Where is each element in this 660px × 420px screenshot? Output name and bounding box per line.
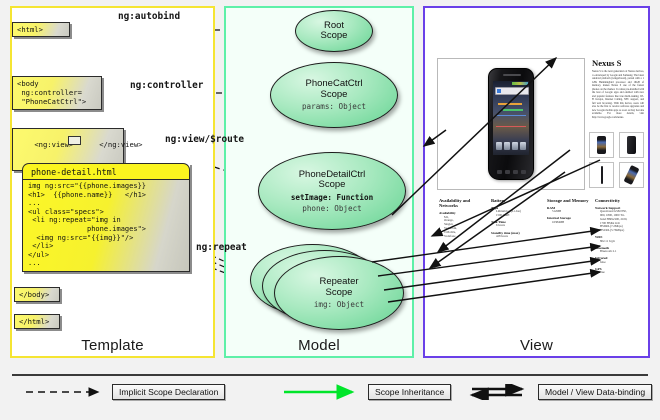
- spec-group: RAM 512MB: [547, 206, 593, 214]
- legend-label: Model / View Data-binding: [538, 384, 652, 400]
- spec-value: Vodafone: [439, 235, 485, 239]
- connector-label-autobind: ng:autobind: [118, 11, 180, 22]
- spec-heading: Connectivity: [595, 198, 643, 203]
- scope-phonedetailctrl-prop-setimage: setImage: Function: [291, 193, 373, 202]
- spec-value: false: [595, 261, 643, 265]
- ng-view-slot-icon: [68, 136, 81, 145]
- scope-phonecatctrl-line2: Scope: [321, 90, 348, 101]
- thumbnail-image-icon: [624, 165, 640, 185]
- spec-group: Internal Storage 16384MB: [547, 216, 593, 224]
- spec-column-battery: Battery Type Lithium Ion (Li-Ion) 1500 m…: [491, 198, 541, 239]
- scope-phonedetailctrl[interactable]: PhoneDetailCtrl Scope setImage: Function…: [258, 152, 406, 230]
- phone-hardware-buttons: [495, 168, 527, 175]
- phone-app-dock: [496, 142, 526, 152]
- code-box-html-open[interactable]: <html>: [12, 22, 70, 37]
- column-label-template: Template: [12, 337, 213, 354]
- phone-hero-image: [488, 68, 534, 180]
- legend-label: Scope Inheritance: [368, 384, 451, 400]
- spec-group: Talk Time 6 hours: [491, 220, 541, 228]
- scope-repeater[interactable]: Repeater Scope img: Object: [274, 256, 404, 330]
- phone-screen: [493, 81, 529, 155]
- phone-statusbar-icon: [512, 82, 528, 85]
- spec-heading: Availability and Networks: [439, 198, 485, 209]
- spec-value: 428 hours: [491, 235, 541, 239]
- phone-search-widget-icon: [495, 87, 529, 95]
- code-box-ng-view-text: <ng:view> </ng:view>: [34, 140, 142, 149]
- scope-repeater-prop-img: img: Object: [314, 300, 364, 309]
- code-box-html-close[interactable]: </html>: [14, 314, 60, 329]
- spec-value: Bluetooth 2.1: [595, 250, 643, 254]
- template-note-phone-detail[interactable]: phone-detail.html img ng:src="{{phone.im…: [22, 163, 190, 272]
- phone-thumbnail-side[interactable]: [589, 162, 614, 188]
- spec-group: Infrared false: [595, 256, 643, 264]
- note-title: phone-detail.html: [22, 163, 190, 179]
- spec-value: 16384MB: [547, 221, 593, 225]
- dashed-arrow-icon: [20, 384, 106, 400]
- scope-phonecatctrl-prop-params: params: Object: [302, 102, 366, 111]
- spec-group: Type Lithium Ion (Li-Ion) 1500 mAH: [491, 206, 541, 218]
- phone-widget-bar-2: [503, 109, 523, 111]
- spec-group: Availability M1, Orange, Singtel, Swissc…: [439, 211, 485, 238]
- double-arrow-icon: [466, 384, 532, 400]
- phone-detail-description: Nexus S is the next generation of Nexus …: [592, 70, 644, 130]
- spec-group: Bluetooth Bluetooth 2.1: [595, 246, 643, 254]
- note-code: img ng:src="{{phone.images}} <h1> {{phon…: [22, 179, 190, 272]
- scope-phonedetailctrl-prop-phone: phone: Object: [302, 204, 361, 213]
- code-box-body-close[interactable]: </body>: [14, 287, 60, 302]
- spec-group: Standby time (max) 428 hours: [491, 231, 541, 239]
- column-label-model: Model: [226, 337, 412, 354]
- phone-widget-bar-3: [496, 115, 526, 116]
- spec-column-connectivity: Connectivity Network Support Quad-band G…: [595, 198, 643, 275]
- connector-label-route: ng:view/$route: [165, 134, 244, 145]
- legend-item-scope-inheritance: Scope Inheritance: [276, 384, 451, 400]
- spec-value: 512MB: [547, 210, 593, 214]
- phone-speaker: [503, 74, 521, 76]
- spec-value: HSUPA (5.76Mbps): [595, 229, 643, 233]
- phone-widget-bar-4: [496, 126, 526, 127]
- spec-column-storage: Storage and Memory RAM 512MB Internal St…: [547, 198, 593, 224]
- view-phone-detail-page: Nexus S Nexus S is the next generation o…: [429, 12, 644, 338]
- scope-phonecatctrl[interactable]: PhoneCatCtrl Scope params: Object: [270, 62, 398, 128]
- spec-heading: Battery: [491, 198, 541, 203]
- spec-value: 6 hours: [491, 224, 541, 228]
- column-label-view: View: [425, 337, 648, 354]
- phone-widget-bar-1: [498, 103, 522, 105]
- thumbnail-image-icon: [597, 136, 606, 154]
- spec-group: GPS true: [595, 267, 643, 275]
- phone-hero-image-frame[interactable]: [437, 58, 585, 190]
- spec-value: 1500 mAH: [491, 214, 541, 218]
- phone-thumbnail-back[interactable]: [619, 132, 644, 158]
- connector-label-controller: ng:controller: [130, 80, 203, 91]
- phone-thumbnail-angle[interactable]: [619, 162, 644, 188]
- scope-root[interactable]: Root Scope: [295, 10, 373, 52]
- spec-group: Network Support Quad-band GSM 850, 900, …: [595, 206, 643, 233]
- diagram-root: Template <html> <body ng:controller= "Ph…: [0, 0, 660, 420]
- legend-label: Implicit Scope Declaration: [112, 384, 225, 400]
- legend: Implicit Scope Declaration Scope Inherit…: [0, 372, 660, 420]
- thumbnail-image-icon: [601, 166, 603, 184]
- spec-value: 802.11 b/g/n: [595, 240, 643, 244]
- spec-heading: Storage and Memory: [547, 198, 593, 203]
- scope-phonedetailctrl-line2: Scope: [319, 180, 346, 191]
- code-box-body-open[interactable]: <body ng:controller= "PhoneCatCtrl">: [12, 76, 102, 110]
- phone-detail-title: Nexus S: [592, 58, 644, 68]
- spec-value: true: [595, 271, 643, 275]
- scope-repeater-line1: Repeater: [319, 277, 358, 288]
- phone-thumbnail-front[interactable]: [589, 132, 614, 158]
- spec-group: WiFi 802.11 b/g/n: [595, 235, 643, 243]
- solid-arrow-icon: [276, 384, 362, 400]
- spec-column-availability: Availability and Networks Availability M…: [439, 198, 485, 238]
- thumbnail-image-icon: [627, 136, 636, 154]
- connector-label-repeat: ng:repeat: [196, 242, 247, 253]
- legend-item-implicit-scope-declaration: Implicit Scope Declaration: [20, 384, 225, 400]
- scope-phonecatctrl-line1: PhoneCatCtrl: [305, 79, 362, 90]
- scope-root-line2: Scope: [321, 31, 348, 42]
- scope-repeater-line2: Scope: [326, 288, 353, 299]
- legend-item-model-view-data-binding: Model / View Data-binding: [466, 384, 652, 400]
